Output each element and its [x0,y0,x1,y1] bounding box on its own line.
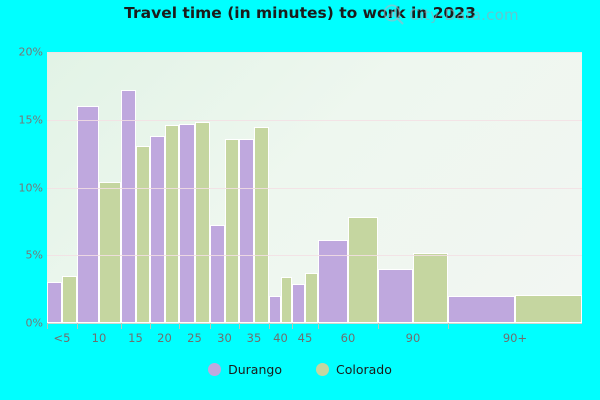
x-axis-tick [179,323,180,329]
x-axis-tick-label: 45 [298,331,313,345]
x-axis-tick-label: 90+ [503,331,527,345]
y-axis-tick-label: 5% [5,249,43,262]
legend: Durango Colorado [0,362,600,377]
bar-colorado-<5[interactable] [62,276,77,323]
bar-colorado-15[interactable] [136,146,151,324]
y-axis-tick-label: 20% [5,46,43,59]
x-axis-tick-label: 15 [128,331,143,345]
legend-item-colorado[interactable]: Colorado [316,362,392,377]
bar-durango-45[interactable] [292,284,305,323]
bar-durango-25[interactable] [179,124,195,323]
bar-durango-90+[interactable] [448,296,515,323]
legend-swatch-colorado [316,363,329,376]
x-axis-tick [378,323,379,329]
x-axis-tick [47,323,48,329]
x-axis-tick-label: 20 [157,331,172,345]
bar-durango-15[interactable] [121,90,136,323]
travel-time-chart: Travel time (in minutes) to work in 2023… [0,0,600,400]
legend-swatch-durango [208,363,221,376]
y-axis-tick-label: 0% [5,317,43,330]
y-axis-tick-label: 15% [5,113,43,126]
x-axis-tick [269,323,270,329]
x-axis-tick [318,323,319,329]
x-axis-tick-label: 60 [341,331,356,345]
y-axis-tick-label: 10% [5,181,43,194]
bar-colorado-90+[interactable] [515,295,582,323]
bar-colorado-90[interactable] [413,253,448,323]
x-axis-tick [210,323,211,329]
legend-item-durango[interactable]: Durango [208,362,282,377]
bar-durango-60[interactable] [318,240,348,323]
x-axis-tick-label: 30 [217,331,232,345]
gridline [47,188,582,189]
x-axis-tick [448,323,449,329]
bar-durango-<5[interactable] [47,282,62,323]
x-axis-tick [239,323,240,329]
gridline [47,255,582,256]
x-axis-tick-label: 40 [273,331,288,345]
x-axis-tick-label: 90 [406,331,421,345]
watermark: City-Data.com [383,4,519,25]
x-axis-tick [292,323,293,329]
legend-label-durango: Durango [228,362,282,377]
bar-colorado-40[interactable] [281,277,293,323]
x-axis-tick-label: 35 [247,331,262,345]
x-axis-tick-label: <5 [54,331,71,345]
bar-colorado-20[interactable] [165,125,180,323]
bar-colorado-35[interactable] [254,127,269,323]
bar-colorado-25[interactable] [195,122,211,323]
bar-colorado-30[interactable] [225,139,240,323]
bar-durango-40[interactable] [269,296,281,323]
x-axis-tick-label: 10 [92,331,107,345]
x-axis-line [47,323,582,324]
watermark-text: City-Data.com [409,6,519,24]
bar-durango-90[interactable] [378,269,413,323]
y-axis-labels: 0%5%10%15%20% [0,0,43,400]
magnifier-bar-chart-icon [383,4,404,25]
gridline [47,120,582,121]
gridline [47,52,582,53]
x-axis-tick [121,323,122,329]
x-axis-tick-label: 25 [187,331,202,345]
bar-durango-35[interactable] [239,139,254,323]
bar-durango-30[interactable] [210,225,225,323]
plot-area [47,52,582,323]
bar-colorado-10[interactable] [99,182,121,323]
x-axis-tick [150,323,151,329]
legend-label-colorado: Colorado [336,362,392,377]
bar-durango-10[interactable] [77,106,99,323]
bar-colorado-60[interactable] [348,217,378,323]
x-axis-tick [77,323,78,329]
bar-durango-20[interactable] [150,136,165,323]
bar-colorado-45[interactable] [305,273,318,323]
